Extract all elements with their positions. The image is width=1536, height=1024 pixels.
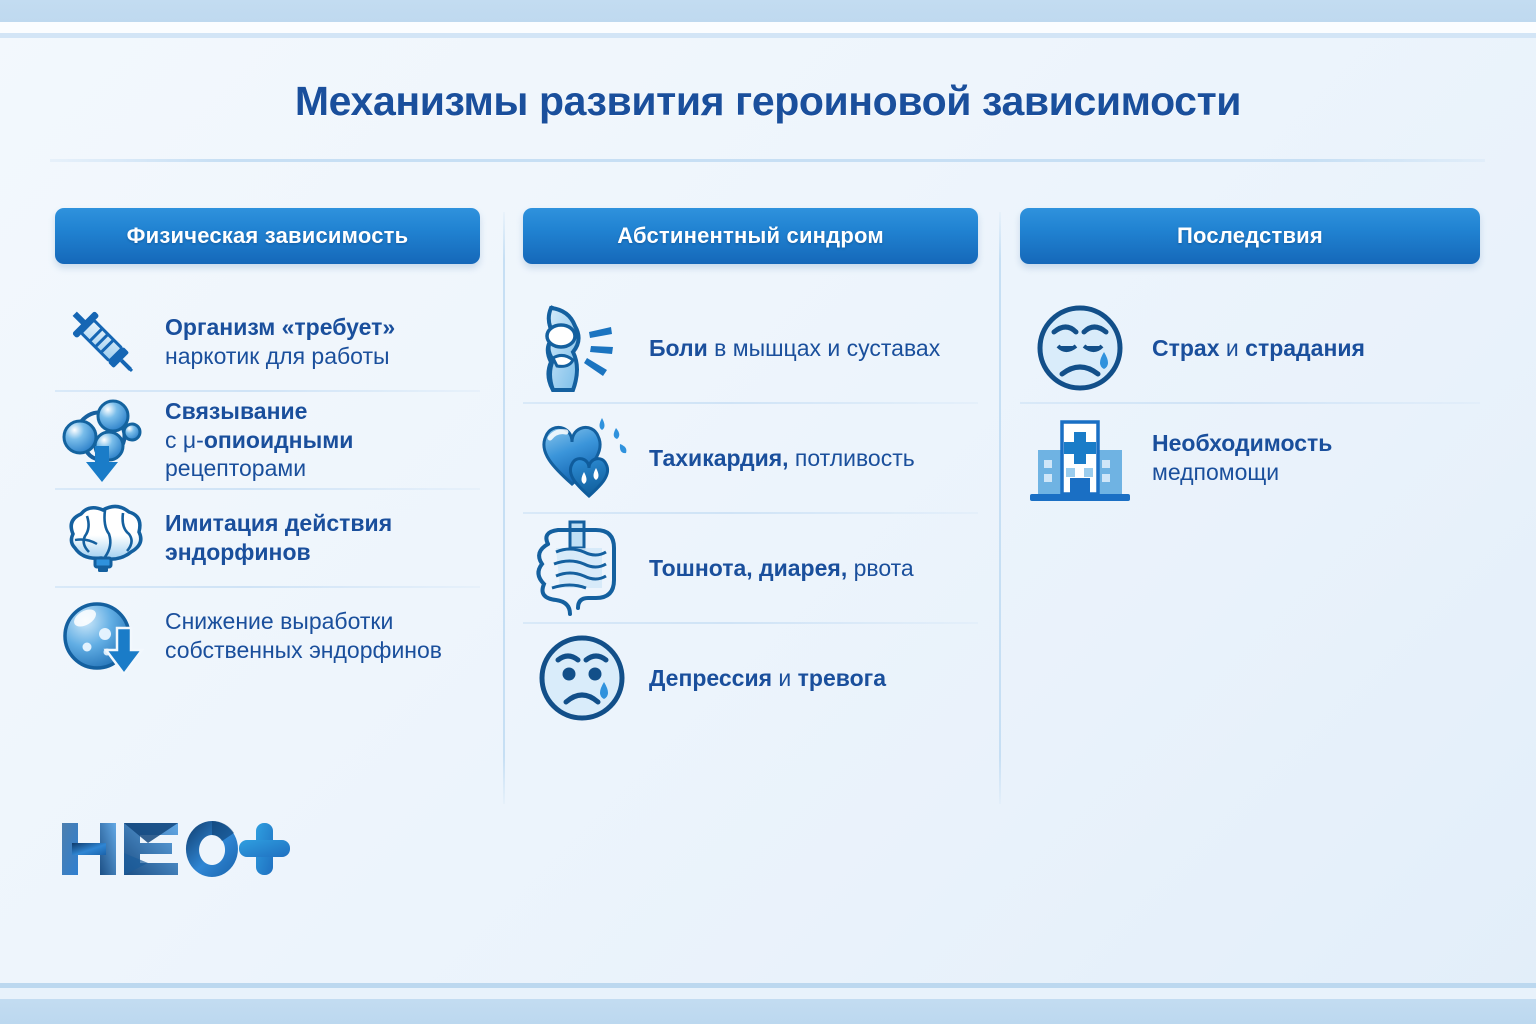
columns-container: Физическая зависимость — [0, 208, 1536, 808]
items-list-2: Боли в мышцах и суставах — [523, 294, 978, 732]
text-part: Страх — [1152, 335, 1220, 361]
text-part: опиоидными — [204, 427, 354, 453]
sad-face-tear-icon — [523, 630, 641, 726]
page-title: Механизмы развития героиновой зависимост… — [0, 78, 1536, 125]
column-physical-dependence: Физическая зависимость — [55, 208, 480, 684]
text-part: потливость — [789, 445, 915, 471]
text-part: Имитация действия — [165, 510, 392, 536]
list-item[interactable]: Тахикардия, потливость — [523, 404, 978, 512]
text-part: Тахикардия, — [649, 445, 789, 471]
neo-plus-logo[interactable] — [60, 818, 300, 880]
column-header-chip-3[interactable]: Последствия — [1020, 208, 1480, 264]
list-item-text: Тошнота, диарея, рвота — [649, 554, 914, 583]
opioid-receptor-icon — [55, 394, 151, 486]
column-consequences: Последствия — [1020, 208, 1480, 512]
text-part: Необходимость — [1152, 430, 1332, 456]
brain-icon — [55, 502, 151, 574]
items-list-3: Страх и страдания — [1020, 294, 1480, 512]
top-band-gap — [0, 22, 1536, 33]
column-header-chip-2[interactable]: Абстинентный синдром — [523, 208, 978, 264]
list-item[interactable]: Страх и страдания — [1020, 294, 1480, 402]
text-part: тревога — [798, 665, 886, 691]
text-part: Тошнота, диарея, — [649, 555, 847, 581]
endorphin-decline-icon — [55, 594, 151, 678]
list-item-text: Боли в мышцах и суставах — [649, 334, 940, 363]
text-part: Связывание — [165, 398, 307, 424]
list-item[interactable]: Необходимость медпомощи — [1020, 404, 1480, 512]
list-item[interactable]: Имитация действия эндорфинов — [55, 490, 480, 586]
text-part: Боли — [649, 335, 708, 361]
column-header-chip-1[interactable]: Физическая зависимость — [55, 208, 480, 264]
text-part: и — [772, 665, 798, 691]
list-item[interactable]: Депрессия и тревога — [523, 624, 978, 732]
list-item[interactable]: Связывание с μ-опиоидными рецепторами — [55, 392, 480, 488]
list-item[interactable]: Организм «требует» наркотик для работы — [55, 294, 480, 390]
text-part: и — [1220, 335, 1246, 361]
title-divider — [50, 159, 1485, 162]
text-part: эндорфинов — [165, 539, 311, 565]
text-part: Депрессия — [649, 665, 772, 691]
list-item[interactable]: Тошнота, диарея, рвота — [523, 514, 978, 622]
items-list-1: Организм «требует» наркотик для работы — [55, 294, 480, 684]
text-part: в мышцах и суставах — [708, 335, 940, 361]
list-item-text: Тахикардия, потливость — [649, 444, 915, 473]
list-item-text: Связывание с μ-опиоидными рецепторами — [165, 397, 353, 484]
list-item-text: Имитация действия эндорфинов — [165, 509, 392, 567]
text-part: собственных эндорфинов — [165, 637, 442, 663]
bottom-band — [0, 999, 1536, 1024]
list-item-text: Снижение выработки собственных эндорфино… — [165, 607, 442, 665]
list-item-text: Страх и страдания — [1152, 334, 1365, 363]
text-part: с μ- — [165, 427, 204, 453]
column-withdrawal-syndrome: Абстинентный синдром — [523, 208, 978, 732]
column-header-label-1: Физическая зависимость — [55, 223, 480, 249]
column-header-label-2: Абстинентный синдром — [523, 223, 978, 249]
text-part: наркотик для работы — [165, 343, 390, 369]
bottom-band-gap — [0, 988, 1536, 999]
top-band — [0, 0, 1536, 22]
list-item-text: Депрессия и тревога — [649, 664, 886, 693]
heart-sweat-icon — [523, 412, 641, 504]
joint-pain-icon — [523, 302, 641, 394]
syringe-icon — [55, 300, 151, 384]
list-item[interactable]: Боли в мышцах и суставах — [523, 294, 978, 402]
infographic-canvas: Механизмы развития героиновой зависимост… — [0, 0, 1536, 1024]
text-part: страдания — [1245, 335, 1365, 361]
list-item[interactable]: Снижение выработки собственных эндорфино… — [55, 588, 480, 684]
column-header-label-3: Последствия — [1020, 223, 1480, 249]
text-part: Снижение выработки — [165, 608, 393, 634]
text-part: рецепторами — [165, 455, 306, 481]
list-item-text: Организм «требует» наркотик для работы — [165, 313, 395, 371]
list-item-text: Необходимость медпомощи — [1152, 429, 1332, 487]
text-part: Организм «требует» — [165, 314, 395, 340]
top-band-line — [0, 33, 1536, 38]
crying-face-icon — [1020, 300, 1140, 396]
text-part: медпомощи — [1152, 459, 1279, 485]
text-part: рвота — [847, 555, 914, 581]
hospital-icon — [1020, 410, 1140, 506]
intestines-icon — [523, 518, 641, 618]
